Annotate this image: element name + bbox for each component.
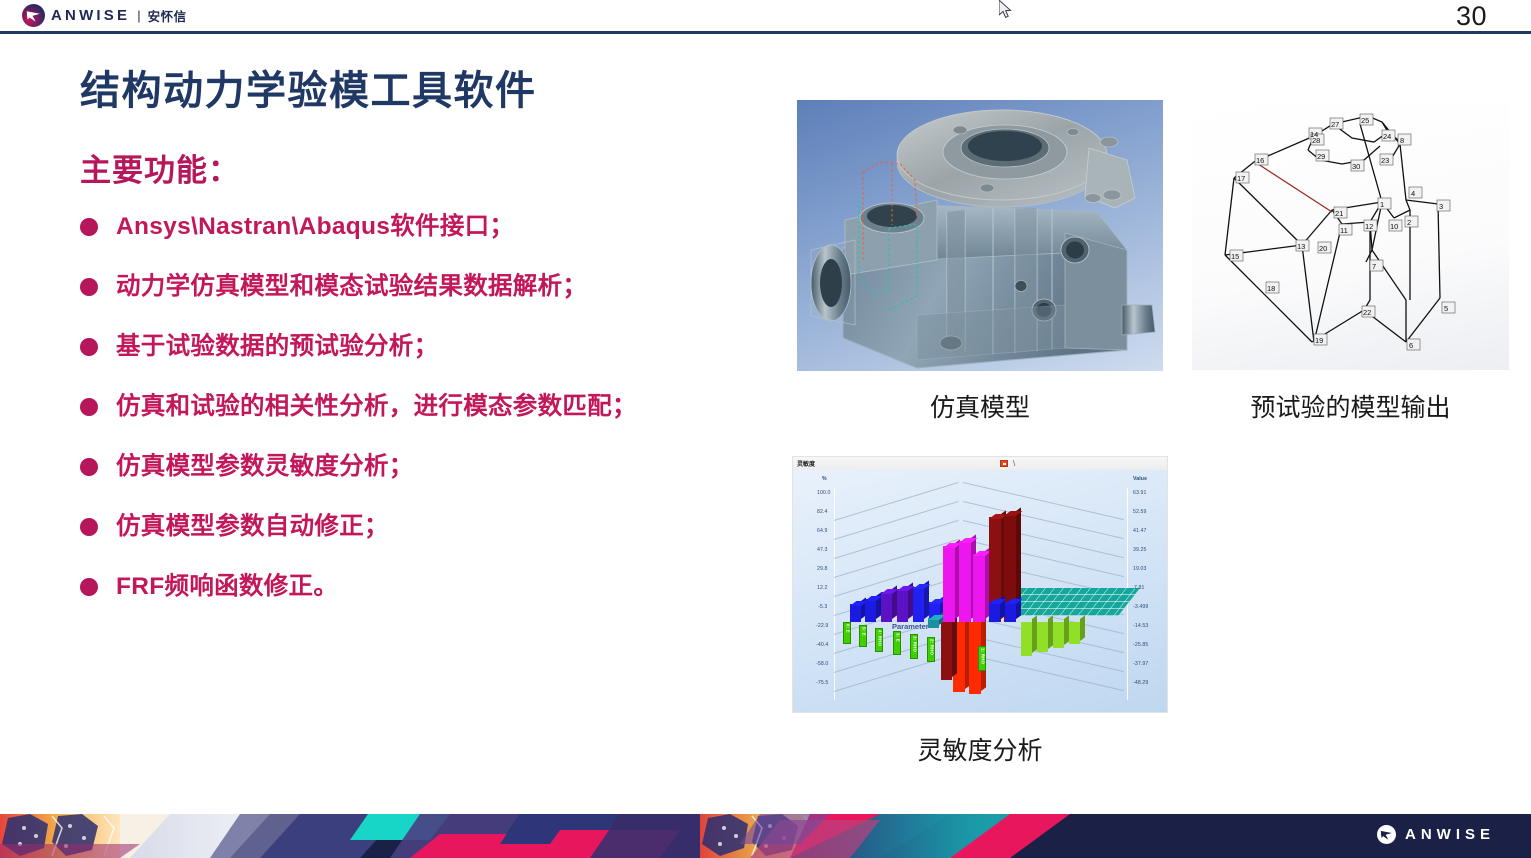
bullet-label: 动力学仿真模型和模态试验结果数据解析； bbox=[116, 268, 587, 306]
cad-housing-render bbox=[797, 100, 1163, 371]
node-label: 1 bbox=[1380, 200, 1384, 209]
node-label: 6 bbox=[1409, 341, 1413, 350]
node-label: 8 bbox=[1400, 136, 1404, 145]
list-item: 基于试验数据的预试验分析； bbox=[80, 328, 800, 388]
brand-name-cn: 安怀信 bbox=[148, 6, 187, 25]
node-label: 28 bbox=[1312, 136, 1320, 145]
bullet-label: FRF频响函数修正。 bbox=[116, 568, 338, 606]
bullet-dot-icon bbox=[80, 218, 98, 236]
node-label: 2 bbox=[1407, 218, 1411, 227]
category-label: 6: E bbox=[843, 622, 851, 644]
feature-bullet-list: Ansys\Nastran\Abaqus软件接口； 动力学仿真模型和模态试验结果… bbox=[80, 208, 800, 628]
mouse-cursor-icon bbox=[999, 0, 1013, 20]
left-tick: -58.0 bbox=[816, 661, 828, 667]
right-axis-title: Value bbox=[1133, 476, 1147, 482]
node-label: 15 bbox=[1231, 252, 1239, 261]
left-tick: 100.0 bbox=[817, 490, 830, 496]
node-label: 18 bbox=[1267, 284, 1275, 293]
bar-blue bbox=[850, 604, 861, 622]
node-label: 12 bbox=[1365, 222, 1373, 231]
left-tick: 12.2 bbox=[817, 585, 828, 591]
right-tick: 7.81 bbox=[1134, 585, 1145, 591]
footer-brand-name: ANWISE bbox=[1405, 826, 1495, 843]
bar-purple bbox=[897, 589, 908, 622]
bar-green-negative bbox=[1053, 622, 1064, 648]
bar-teal bbox=[928, 618, 939, 628]
node-label: 4 bbox=[1411, 189, 1415, 198]
bar-magenta bbox=[943, 546, 955, 622]
anwise-bird-icon bbox=[22, 4, 45, 27]
list-item: 仿真和试验的相关性分析，进行模态参数匹配； bbox=[80, 388, 800, 448]
record-icon[interactable] bbox=[1000, 460, 1008, 467]
brand-separator: | bbox=[137, 8, 140, 23]
node-label: 23 bbox=[1381, 156, 1389, 165]
node-label: 19 bbox=[1315, 336, 1323, 345]
sensitivity-chart-window: 灵敏度 \ bbox=[792, 456, 1168, 713]
bar-blue bbox=[865, 599, 876, 622]
right-tick: -14.53 bbox=[1133, 623, 1148, 629]
left-tick: -5.3 bbox=[818, 604, 827, 610]
node-label: 29 bbox=[1317, 152, 1325, 161]
menu-slash-icon: \ bbox=[1013, 459, 1015, 468]
node-label: 27 bbox=[1331, 120, 1339, 129]
footer-decorative-band bbox=[0, 814, 1531, 858]
footer-brand-logo: ANWISE bbox=[1377, 825, 1495, 844]
category-label: 3: E bbox=[893, 631, 901, 655]
chart-titlebar: 灵敏度 \ bbox=[793, 457, 1167, 470]
header-divider bbox=[0, 31, 1531, 34]
node-label: 17 bbox=[1237, 174, 1245, 183]
category-label: 4: RHO bbox=[875, 628, 883, 652]
bullet-label: 基于试验数据的预试验分析； bbox=[116, 328, 438, 366]
list-item: FRF频响函数修正。 bbox=[80, 568, 800, 628]
left-tick: -75.5 bbox=[816, 680, 828, 686]
bullet-dot-icon bbox=[80, 398, 98, 416]
node-label: 20 bbox=[1319, 244, 1327, 253]
node-label: 24 bbox=[1383, 132, 1391, 141]
left-tick: 29.8 bbox=[817, 566, 828, 572]
node-label: 11 bbox=[1340, 226, 1348, 235]
bar-magenta bbox=[973, 554, 985, 622]
list-item: Ansys\Nastran\Abaqus软件接口； bbox=[80, 208, 800, 268]
figure-caption: 仿真模型 bbox=[797, 388, 1163, 424]
right-tick: -37.97 bbox=[1133, 661, 1148, 667]
bar-darkred-negative bbox=[941, 622, 952, 680]
pretest-model-image: 12 34 56 78 1011 1213 1415 1617 1819 202… bbox=[1192, 102, 1509, 370]
node-label: 10 bbox=[1390, 222, 1398, 231]
bullet-dot-icon bbox=[80, 278, 98, 296]
slide-footer: ANWISE bbox=[0, 814, 1531, 858]
right-tick: 52.59 bbox=[1133, 509, 1146, 515]
figure-caption: 预试验的模型输出 bbox=[1192, 388, 1509, 424]
right-tick: -3.499 bbox=[1133, 604, 1148, 610]
right-tick: 41.47 bbox=[1133, 528, 1146, 534]
cad-model-image bbox=[797, 100, 1163, 371]
bullet-label: 仿真和试验的相关性分析，进行模态参数匹配； bbox=[116, 388, 637, 426]
bullet-dot-icon bbox=[80, 518, 98, 536]
list-item: 动力学仿真模型和模态试验结果数据解析； bbox=[80, 268, 800, 328]
node-label: 25 bbox=[1361, 116, 1369, 125]
bar-blue bbox=[913, 587, 924, 622]
node-label: 21 bbox=[1335, 209, 1343, 218]
node-label: 13 bbox=[1297, 242, 1305, 251]
left-tick: 82.4 bbox=[817, 509, 828, 515]
category-label: 5: E bbox=[859, 625, 867, 647]
slide-title: 结构动力学验模工具软件 bbox=[80, 58, 537, 116]
right-tick: 19.03 bbox=[1133, 566, 1146, 572]
parameter-axis-label: Parameter bbox=[892, 622, 929, 631]
left-tick: 47.3 bbox=[817, 547, 828, 553]
right-tick: 39.25 bbox=[1133, 547, 1146, 553]
right-tick: -25.85 bbox=[1133, 642, 1148, 648]
wireframe-node-diagram: 12 34 56 78 1011 1213 1415 1617 1819 202… bbox=[1192, 102, 1509, 370]
slide-header: ANWISE | 安怀信 30 bbox=[0, 0, 1531, 33]
figure-caption: 灵敏度分析 bbox=[792, 731, 1168, 767]
category-label: 3: RHO bbox=[910, 634, 918, 659]
node-label: 22 bbox=[1363, 308, 1371, 317]
bullet-label: Ansys\Nastran\Abaqus软件接口； bbox=[116, 208, 514, 246]
right-tick: 63.91 bbox=[1133, 490, 1146, 496]
list-item: 仿真模型参数灵敏度分析； bbox=[80, 448, 800, 508]
bar-blue bbox=[1005, 602, 1016, 622]
node-label: 16 bbox=[1256, 156, 1264, 165]
bullet-dot-icon bbox=[80, 338, 98, 356]
node-label: 3 bbox=[1439, 202, 1443, 211]
chart-plot-area: % 100.0 82.4 64.9 47.3 29.8 12.2 -5.3 -2… bbox=[793, 470, 1167, 712]
bar-green-negative bbox=[1037, 622, 1048, 652]
bar-green-negative bbox=[1021, 622, 1032, 656]
bullet-label: 仿真模型参数自动修正； bbox=[116, 508, 389, 546]
anwise-bird-icon bbox=[1377, 825, 1396, 844]
presentation-slide: ANWISE | 安怀信 30 结构动力学验模工具软件 主要功能： Ansys\… bbox=[0, 0, 1531, 858]
category-label: 1: RHO bbox=[978, 646, 986, 671]
left-axis-title: % bbox=[822, 476, 827, 482]
bullet-dot-icon bbox=[80, 578, 98, 596]
bar-magenta bbox=[959, 541, 971, 622]
node-label: 5 bbox=[1444, 304, 1448, 313]
bullet-label: 仿真模型参数灵敏度分析； bbox=[116, 448, 414, 486]
chart-title: 灵敏度 bbox=[797, 459, 815, 468]
node-label: 30 bbox=[1352, 162, 1360, 171]
subheading: 主要功能： bbox=[80, 145, 240, 190]
bullet-dot-icon bbox=[80, 458, 98, 476]
node-label: 7 bbox=[1372, 262, 1376, 271]
left-tick: -40.4 bbox=[816, 642, 828, 648]
bar-blue bbox=[989, 602, 1000, 622]
bar-purple bbox=[881, 592, 892, 622]
brand-name: ANWISE bbox=[51, 8, 130, 23]
left-tick: 64.9 bbox=[817, 528, 828, 534]
bar-green-negative bbox=[1069, 622, 1080, 644]
list-item: 仿真模型参数自动修正； bbox=[80, 508, 800, 568]
brand-logo: ANWISE | 安怀信 bbox=[22, 4, 187, 27]
right-tick: -48.29 bbox=[1133, 680, 1148, 686]
page-number: 30 bbox=[1456, 1, 1487, 32]
category-label: 2: RHO bbox=[927, 637, 935, 662]
left-tick: -22.9 bbox=[816, 623, 828, 629]
